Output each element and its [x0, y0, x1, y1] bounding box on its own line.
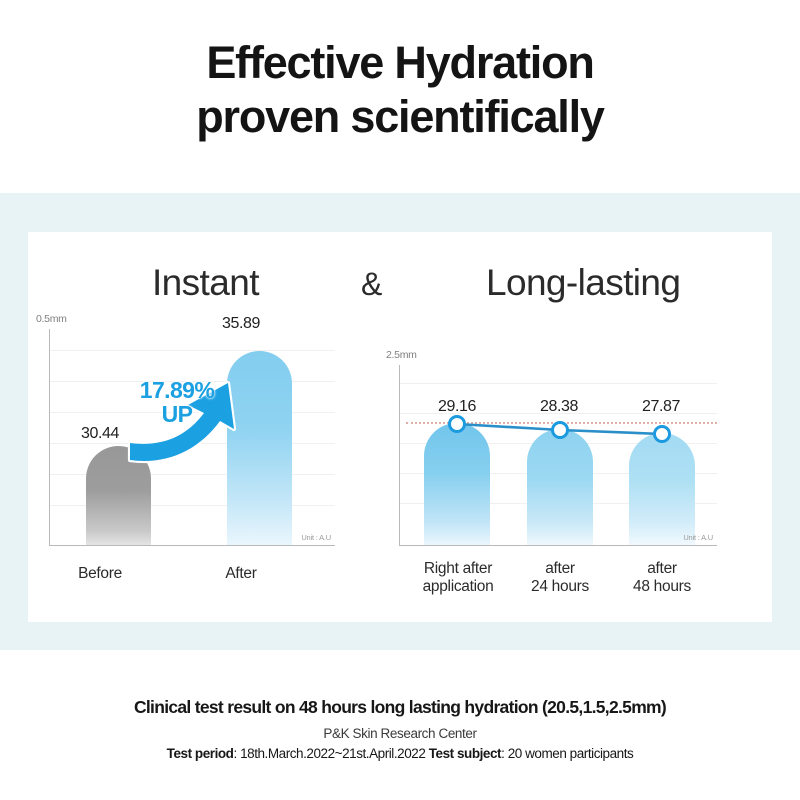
title-separator-ampersand: & — [361, 266, 382, 303]
chart-title-long-lasting: Long-lasting — [486, 262, 680, 304]
growth-callout: 17.89% UP — [122, 378, 232, 426]
value-label-after: 35.89 — [196, 315, 286, 333]
trend-line — [400, 365, 718, 546]
left-chart-y-axis-label: 0.5mm — [36, 313, 67, 325]
left-chart-unit-note: Unit : A.U — [301, 533, 331, 542]
x-label-after-48-hours: after 48 hours — [607, 560, 717, 596]
page-title: Effective Hydration proven scientificall… — [0, 36, 800, 144]
growth-direction: UP — [122, 402, 232, 426]
test-period-label: Test period — [167, 746, 234, 761]
x-label-line-2: application — [403, 578, 513, 596]
x-label-line-2: 48 hours — [607, 578, 717, 596]
growth-percent: 17.89% — [122, 378, 232, 402]
test-subject-label: Test subject — [429, 746, 501, 761]
right-chart-unit-note: Unit : A.U — [683, 533, 713, 542]
infographic-page: Effective Hydration proven scientificall… — [0, 0, 800, 800]
x-label-line-1: after — [607, 560, 717, 578]
test-period-value: : 18th.March.2022~21st.April.2022 — [233, 746, 425, 761]
x-label-line-1: after — [505, 560, 615, 578]
x-label-line-2: 24 hours — [505, 578, 615, 596]
chart-title-instant: Instant — [152, 262, 259, 304]
x-label-after-24-hours: after 24 hours — [505, 560, 615, 596]
marker-point-3 — [655, 427, 670, 442]
x-label-after: After — [186, 565, 296, 583]
value-label-after-24-hours: 28.38 — [513, 398, 605, 416]
caption-main: Clinical test result on 48 hours long la… — [0, 696, 800, 718]
marker-point-2 — [553, 423, 568, 438]
test-subject-value: : 20 women participants — [501, 746, 633, 761]
right-chart-plot-area: Unit : A.U — [399, 365, 717, 546]
x-label-line-1: Right after — [403, 560, 513, 578]
section-titles: Instant & Long-lasting — [0, 262, 800, 312]
marker-point-1 — [450, 417, 465, 432]
caption-meta: Test period: 18th.March.2022~21st.April.… — [0, 744, 800, 763]
headline-line-1: Effective Hydration — [0, 36, 800, 90]
x-label-right-after-application: Right after application — [403, 560, 513, 596]
caption-research-center: P&K Skin Research Center — [0, 724, 800, 743]
value-label-before: 30.44 — [55, 425, 145, 443]
right-chart-y-axis-label: 2.5mm — [386, 349, 417, 361]
headline-line-2: proven scientifically — [0, 90, 800, 144]
value-label-right-after-application: 29.16 — [411, 398, 503, 416]
value-label-after-48-hours: 27.87 — [615, 398, 707, 416]
caption-block: Clinical test result on 48 hours long la… — [0, 696, 800, 763]
x-label-before: Before — [45, 565, 155, 583]
